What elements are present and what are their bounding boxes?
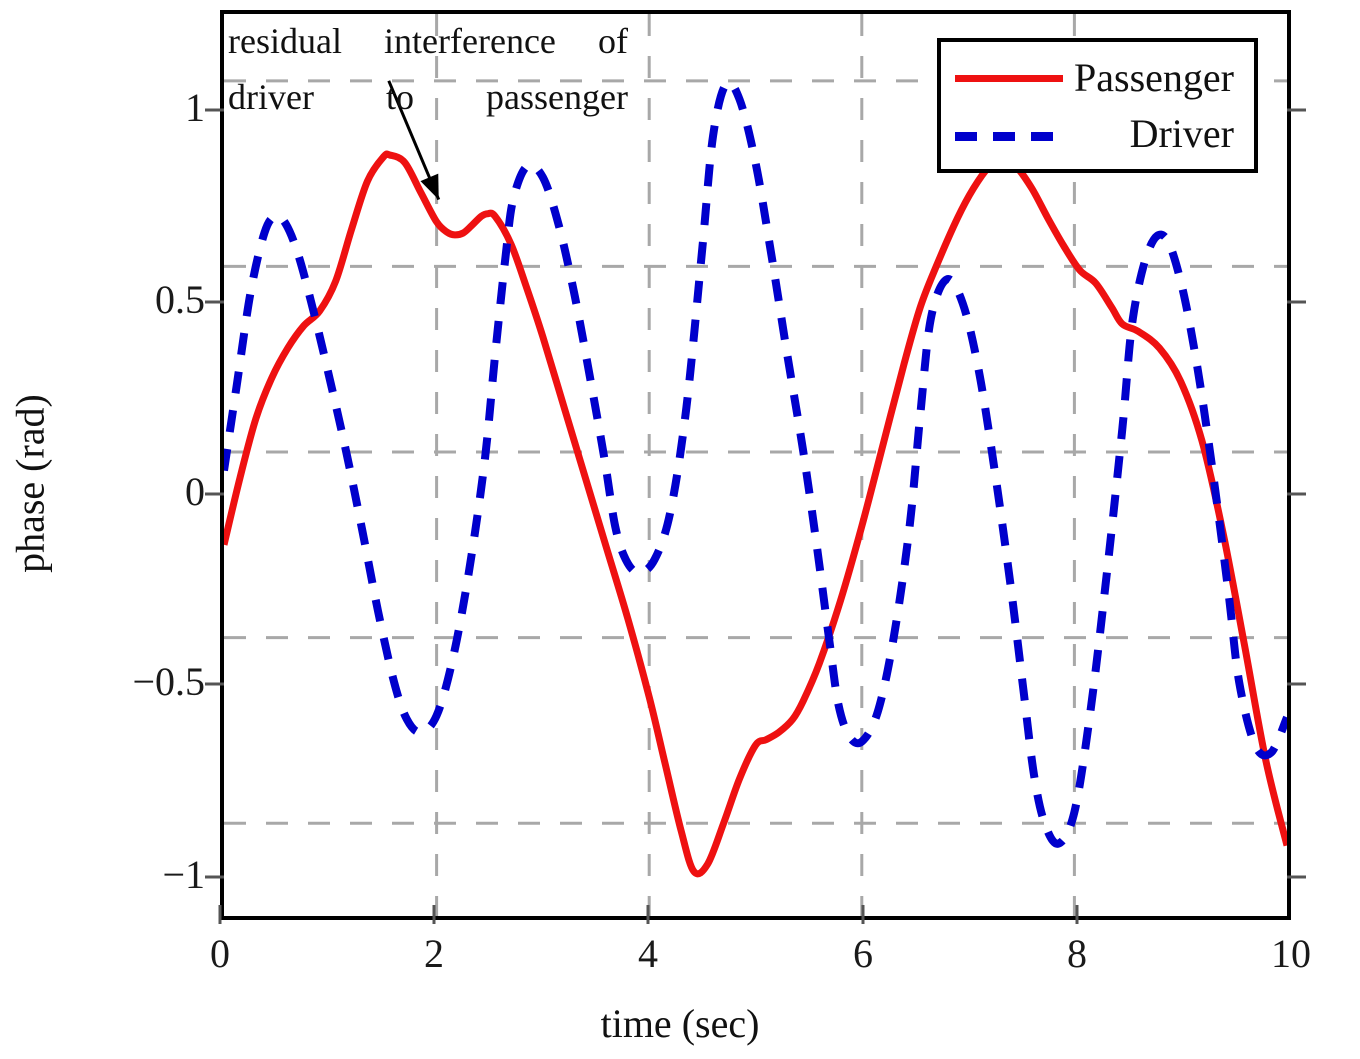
legend[interactable]: Passenger Driver xyxy=(937,38,1258,173)
annotation-line-1: residual interference of xyxy=(228,14,628,70)
x-tick-label-8: 8 xyxy=(1037,934,1117,974)
x-tick-label-4: 4 xyxy=(608,934,688,974)
y-axis-label: phase (rad) xyxy=(7,304,54,664)
data-series-layer xyxy=(224,82,1287,873)
y-tick-label-0: 0 xyxy=(110,472,205,512)
y-tick-label-neg1: −1 xyxy=(88,855,205,895)
x-tick-label-6: 6 xyxy=(823,934,903,974)
annotation-text: residual interference of driver to passe… xyxy=(228,14,628,126)
x-axis-label: time (sec) xyxy=(0,1000,1360,1047)
annotation-line-2: driver to passenger xyxy=(228,70,628,126)
x-tick-label-2: 2 xyxy=(394,934,474,974)
x-tick-label-10: 10 xyxy=(1251,934,1331,974)
series-line-passenger xyxy=(224,154,1287,874)
y-tick-label-1: 1 xyxy=(110,88,205,128)
chart-figure: 1 0.5 0 −0.5 −1 0 2 4 6 8 10 time (sec) … xyxy=(0,0,1360,1059)
x-tick-label-0: 0 xyxy=(180,934,260,974)
legend-label-passenger: Passenger xyxy=(1063,58,1240,98)
legend-label-driver: Driver xyxy=(1063,114,1240,154)
y-tick-label-0_5: 0.5 xyxy=(110,280,205,320)
legend-entry-passenger[interactable]: Passenger xyxy=(941,50,1254,106)
legend-swatch-dashed-line-icon xyxy=(955,123,1063,145)
y-tick-label-neg0_5: −0.5 xyxy=(88,662,205,702)
legend-swatch-solid-line-icon xyxy=(955,67,1063,89)
series-line-driver xyxy=(224,82,1287,843)
legend-entry-driver[interactable]: Driver xyxy=(941,106,1254,162)
